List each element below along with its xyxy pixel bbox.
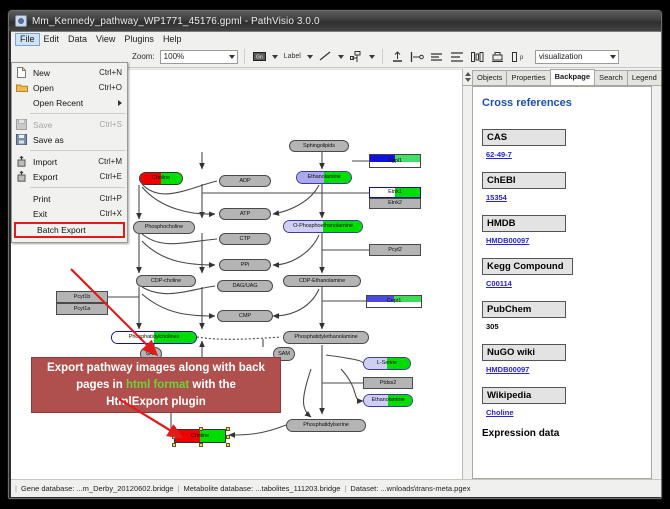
sidebar-panel: Objects Properties Backpage Search Legen… (463, 69, 661, 479)
tab-properties[interactable]: Properties (506, 70, 550, 85)
save-icon (14, 118, 29, 131)
folder-open-icon (14, 81, 29, 94)
pathway-node-label: Pcyt1b (74, 294, 91, 301)
xref-value: 305 (482, 318, 642, 331)
pathway-node-phosphocholine[interactable]: Phosphocholine (133, 221, 195, 234)
export-icon (14, 170, 29, 183)
backpage-title: Cross references (482, 97, 642, 109)
line-dropdown-icon[interactable] (337, 48, 345, 65)
pathway-node-pcyt1a[interactable]: Pcyt1a (56, 303, 108, 315)
pathway-node-label: L-Serine (377, 360, 397, 367)
chevron-down-icon (229, 55, 235, 59)
callout-text-1: Export pathway images along with back (47, 362, 265, 374)
annotation-callout: Export pathway images along with back pa… (31, 357, 281, 413)
align-left-icon[interactable] (409, 48, 426, 65)
tab-backpage[interactable]: Backpage (550, 69, 595, 85)
pathway-node-phosphatidylcholines[interactable]: Phosphatidylcholines (111, 331, 197, 344)
menu-file[interactable]: File (15, 33, 40, 46)
pathway-node-ppi[interactable]: PPi (219, 259, 271, 271)
file-menu-item-shortcut: Ctrl+E (100, 172, 127, 181)
pathway-node-label: Phosphatidylserine (303, 422, 348, 429)
stack-icon[interactable] (449, 48, 466, 65)
svg-text:Gn: Gn (256, 55, 263, 61)
file-menu-divider (30, 113, 125, 114)
pathway-node-label: Ptdss2 (380, 380, 397, 387)
file-menu-item-import[interactable]: ImportCtrl+M (12, 154, 127, 169)
datanode-icon[interactable]: Gn (251, 48, 268, 65)
xref-link[interactable]: 62-49-7 (482, 146, 642, 159)
zoom-combobox[interactable]: 100% (160, 50, 238, 64)
file-menu-item-shortcut: Ctrl+X (100, 209, 127, 218)
tab-objects[interactable]: Objects (472, 70, 507, 85)
pathway-node-label: Ethanolamine (307, 174, 340, 181)
pathway-node-choline2[interactable]: Choline (174, 429, 226, 443)
pathway-node-cdpethanol[interactable]: CDP-Ethanolamine (283, 275, 361, 287)
status-metabolite-database: Metabolite database: ...tabolites_111203… (184, 484, 341, 493)
visualization-value: visualization (539, 52, 583, 61)
toolbar-divider (244, 49, 245, 64)
pathway-node-label: Etnk2 (388, 200, 402, 207)
pathway-node-label: Sphingolipids (303, 143, 335, 150)
file-menu-item-label: Import (33, 157, 98, 167)
status-gene-database: Gene database: ...m_Derby_20120602.bridg… (21, 484, 174, 493)
file-menu-item-shortcut: Ctrl+P (100, 194, 127, 203)
file-menu-item-export[interactable]: ExportCtrl+E (12, 169, 127, 184)
selection-handle[interactable] (172, 427, 176, 431)
interaction-icon[interactable] (348, 48, 365, 65)
xref-section: PubChem305 (482, 299, 642, 331)
pathway-node-ethanolamine2[interactable]: Ethanolamine (363, 394, 413, 407)
pathway-node-etnk1[interactable]: Etnk1 (369, 187, 421, 198)
line-icon[interactable] (317, 48, 334, 65)
callout-line-3: HtmlExport plugin (106, 394, 206, 411)
file-menu-item-shortcut: Ctrl+N (99, 68, 127, 77)
menu-view[interactable]: View (92, 33, 120, 46)
no-icon (14, 192, 29, 205)
screenshot-root: Mm_Kennedy_pathway_WP1771_45176.gpml - P… (0, 0, 670, 509)
file-menu-divider (30, 150, 125, 151)
pathway-node-label: ATP (240, 211, 250, 218)
no-icon (18, 224, 33, 237)
pathway-node-sgpl1[interactable]: Sgpl1 (369, 154, 421, 168)
pathway-node-label: CDP-choline (151, 278, 181, 285)
file-menu-dropdown[interactable]: NewCtrl+NOpenCtrl+OOpen RecentSaveCtrl+S… (11, 62, 128, 243)
chevron-down-icon-2 (610, 55, 616, 59)
pathway-node-ptdss2[interactable]: Ptdss2 (363, 377, 413, 389)
xref-section: NuGO wikiHMDB00097 (482, 342, 642, 374)
pathway-node-label: DAG/UAG (232, 283, 257, 290)
file-menu-item-label: Open Recent (33, 98, 118, 108)
pathway-node-label: Phosphocholine (145, 224, 183, 231)
file-menu-item-shortcut: Ctrl+S (100, 120, 127, 129)
pathway-node-label: PPi (241, 262, 249, 269)
tab-search[interactable]: Search (594, 70, 628, 85)
file-menu-item-label: Export (33, 172, 100, 182)
callout-text-2a: pages in (76, 379, 126, 391)
align-center-icon[interactable] (429, 48, 446, 65)
label-button[interactable]: Label (282, 53, 303, 60)
pathway-node-phosphatidyletha[interactable]: Phosphatidylethanolamine (283, 331, 369, 344)
pathway-node-label: Sgpl1 (388, 158, 402, 165)
print-icon[interactable] (489, 48, 506, 65)
align-top-icon[interactable] (389, 48, 406, 65)
label-dropdown-icon[interactable] (306, 48, 314, 65)
xref-link[interactable]: HMDB00097 (482, 361, 642, 374)
pathway-node-label: Ethanolamine (371, 397, 404, 404)
new-document-icon (14, 66, 29, 79)
xref-heading: ChEBI (482, 172, 566, 189)
file-menu-item-print[interactable]: PrintCtrl+P (12, 191, 127, 206)
pathway-node-label: O-Phosphoethanolamine (293, 223, 353, 230)
xref-section: CAS62-49-7 (482, 127, 642, 159)
selection-handle[interactable] (226, 427, 230, 431)
status-divider-1: | (178, 484, 180, 493)
callout-text-2b: with the (189, 379, 236, 391)
file-menu-item-exit[interactable]: ExitCtrl+X (12, 206, 127, 221)
xref-section: ChEBI15354 (482, 170, 642, 202)
pathway-node-label: Choline (152, 175, 170, 182)
pathway-node-cept1[interactable]: Cept1 (366, 295, 422, 308)
application-window: Mm_Kennedy_pathway_WP1771_45176.gpml - P… (8, 10, 662, 499)
pathway-node-pcyt2[interactable]: Pcyt2 (369, 244, 421, 256)
no-icon (14, 96, 29, 109)
pathway-node-lserine[interactable]: L-Serine (363, 357, 411, 370)
pathway-node-label: CMP (239, 313, 251, 320)
xref-link[interactable]: HMDB00097 (482, 232, 642, 245)
no-icon (14, 207, 29, 220)
zoom-value: 100% (164, 52, 184, 61)
file-menu-item-shortcut: Ctrl+M (98, 157, 127, 166)
file-menu-item-label: New (33, 68, 99, 78)
file-menu-item-label: Print (33, 194, 100, 204)
group-icon[interactable]: p (509, 48, 526, 65)
xref-section: HMDBHMDB00097 (482, 213, 642, 245)
selection-handle[interactable] (172, 435, 176, 439)
xref-link[interactable]: C00114 (482, 275, 642, 288)
interaction-dropdown-icon[interactable] (368, 48, 376, 65)
file-menu-item-save-as[interactable]: Save as (12, 132, 127, 147)
pathway-node-label: Phosphatidylethanolamine (294, 334, 357, 341)
xref-heading: NuGO wiki (482, 344, 566, 361)
xref-heading: Wikipedia (482, 387, 566, 404)
file-menu-item-label: Open (33, 83, 99, 93)
align-middle-icon[interactable] (469, 48, 486, 65)
selection-handle[interactable] (199, 443, 203, 447)
xref-link[interactable]: 15354 (482, 189, 642, 202)
file-menu-item-label: Exit (33, 209, 100, 219)
pathway-node-label: ADP (239, 178, 250, 185)
save-as-icon (14, 133, 29, 146)
expression-data-heading: Expression data (482, 428, 642, 439)
xref-section: Kegg CompoundC00114 (482, 256, 642, 288)
pathway-node-pcyt1b[interactable]: Pcyt1b (56, 291, 108, 303)
datanode-dropdown-icon[interactable] (271, 48, 279, 65)
pathway-node-label: Cept1 (387, 298, 401, 305)
pathway-node-label: CDP-Ethanolamine (299, 278, 345, 285)
pathway-node-sphingolipids[interactable]: Sphingolipids (289, 140, 349, 152)
file-menu-item-label: Batch Export (37, 225, 118, 235)
selection-handle[interactable] (199, 427, 203, 431)
menu-plugins[interactable]: Plugins (120, 33, 159, 46)
xref-heading: HMDB (482, 215, 566, 232)
status-divider-0: | (15, 484, 17, 493)
visualization-combobox[interactable]: visualization (535, 50, 619, 64)
pathway-node-label: Pcyt2 (388, 247, 402, 254)
backpage-content[interactable]: Cross references CAS62-49-7ChEBI15354HMD… (472, 86, 652, 479)
xref-link[interactable]: Choline (482, 404, 642, 417)
pathway-node-ophosphoetha[interactable]: O-Phosphoethanolamine (283, 220, 363, 233)
selection-handle[interactable] (226, 443, 230, 447)
pathway-node-ctp[interactable]: CTP (219, 233, 271, 245)
file-menu-item-open-recent[interactable]: Open Recent (12, 95, 127, 110)
chevron-right-icon (118, 100, 122, 106)
xref-heading: Kegg Compound (482, 258, 573, 275)
xref-heading: PubChem (482, 301, 566, 318)
file-menu-item-batch-export[interactable]: Batch Export (14, 222, 125, 238)
status-divider-2: | (344, 484, 346, 493)
sidebar-scroll-arrows[interactable] (464, 71, 471, 83)
window-titlebar[interactable]: Mm_Kennedy_pathway_WP1771_45176.gpml - P… (9, 11, 661, 31)
menubar: File Edit Data View Plugins Help (11, 32, 661, 46)
status-dataset: Dataset: ...wnloads\trans-meta.pgex (350, 484, 470, 493)
statusbar: | Gene database: ...m_Derby_20120602.bri… (11, 479, 661, 497)
callout-line-1: Export pathway images along with back (47, 360, 265, 377)
file-menu-item-shortcut: Ctrl+O (99, 83, 127, 92)
xref-heading: CAS (482, 129, 566, 146)
pathway-node-ethanolamine1[interactable]: Ethanolamine (296, 171, 352, 184)
pathway-node-label: CTP (240, 236, 251, 243)
pathway-node-phosphatidylserine[interactable]: Phosphatidylserine (286, 419, 366, 432)
selection-handle[interactable] (226, 435, 230, 439)
pathway-node-label: Etnk1 (388, 189, 402, 196)
pathway-node-label: Pcyt1a (74, 306, 91, 313)
pathway-node-label: Phosphatidylcholines (129, 334, 180, 341)
pathway-node-choline[interactable]: Choline (139, 172, 183, 185)
import-icon (14, 155, 29, 168)
file-menu-item-label: Save (33, 120, 100, 130)
file-menu-item-open[interactable]: OpenCtrl+O (12, 80, 127, 95)
xref-section: WikipediaCholine (482, 385, 642, 417)
pathway-node-cdpcholine[interactable]: CDP-choline (136, 275, 196, 287)
pathway-node-daguag[interactable]: DAG/UAG (217, 280, 273, 292)
menu-data[interactable]: Data (64, 33, 92, 46)
pathway-node-cmp[interactable]: CMP (217, 310, 273, 322)
callout-highlight: html format (126, 379, 189, 391)
file-menu-item-save: SaveCtrl+S (12, 117, 127, 132)
menu-help[interactable]: Help (159, 33, 187, 46)
window-title: Mm_Kennedy_pathway_WP1771_45176.gpml - P… (32, 16, 320, 27)
sidebar-tabs: Objects Properties Backpage Search Legen… (463, 69, 661, 86)
zoom-label: Zoom: (132, 52, 155, 61)
selection-handle[interactable] (172, 443, 176, 447)
file-menu-item-label: Save as (33, 135, 122, 145)
cross-reference-sections: CAS62-49-7ChEBI15354HMDBHMDB00097Kegg Co… (482, 127, 642, 417)
pathway-node-atp[interactable]: ATP (219, 208, 271, 220)
svg-text:p: p (520, 55, 524, 61)
toolbar-divider-2 (382, 49, 383, 64)
menu-edit[interactable]: Edit (40, 33, 65, 46)
callout-line-2: pages in html format with the (76, 377, 236, 394)
pathway-node-etnk2[interactable]: Etnk2 (369, 198, 421, 209)
file-menu-item-new[interactable]: NewCtrl+N (12, 65, 127, 80)
pathway-node-adp[interactable]: ADP (219, 175, 271, 187)
file-menu-divider (30, 187, 125, 188)
pathvisio-icon (15, 15, 27, 27)
pathway-node-label: Choline (191, 433, 209, 440)
tab-legend[interactable]: Legend (627, 70, 661, 85)
